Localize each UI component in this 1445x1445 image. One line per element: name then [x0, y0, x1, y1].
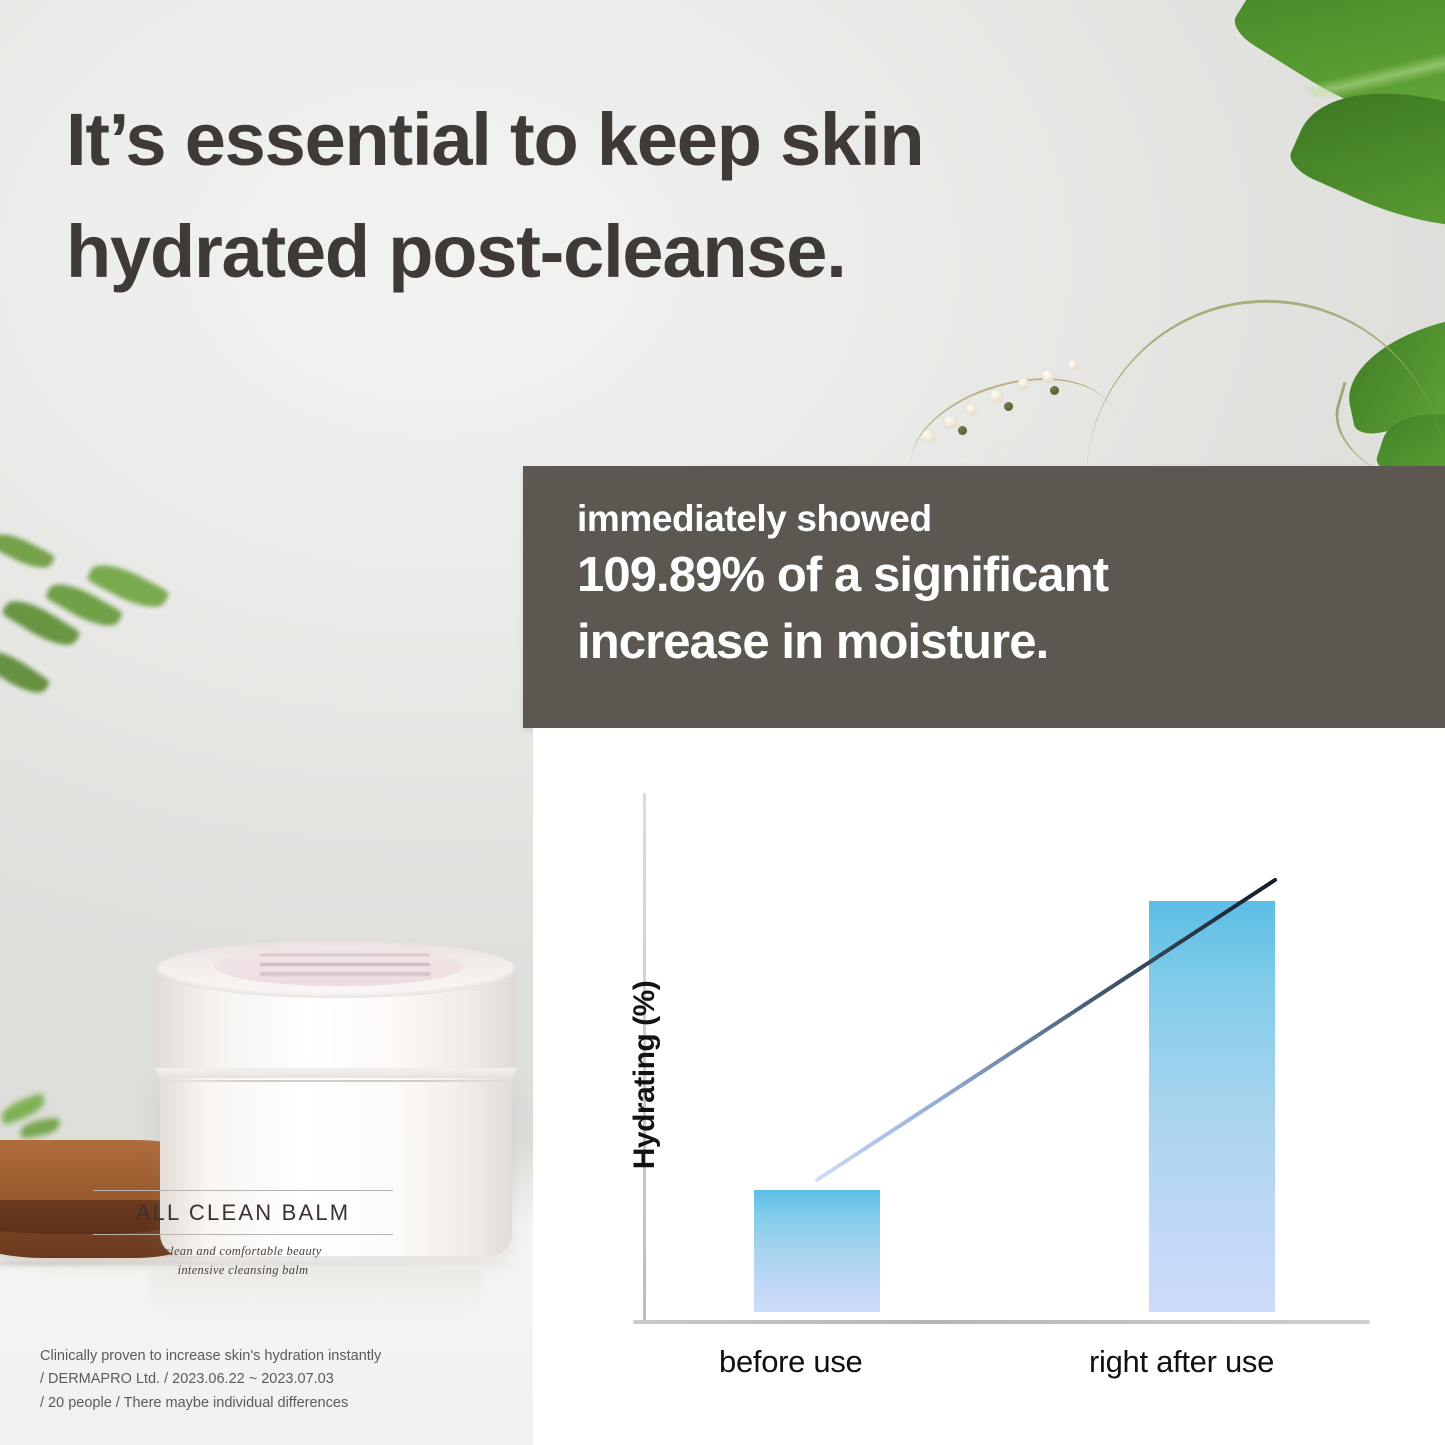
berry-icon: [1004, 402, 1013, 411]
chart-bar-right-after-use: [1149, 901, 1275, 1312]
berry-icon: [944, 416, 957, 429]
product-tagline-line1: clean and comfortable beauty: [164, 1244, 321, 1258]
headline-line-2: hydrated post-cleanse.: [66, 196, 1216, 308]
berry-icon: [1042, 370, 1055, 383]
callout-line-1: immediately showed: [577, 496, 1445, 542]
leaf-icon: [0, 526, 55, 575]
disclaimer-line-3: / 20 people / There maybe individual dif…: [40, 1392, 520, 1415]
berry-icon: [922, 430, 935, 443]
disclaimer-line-1: Clinically proven to increase skin's hyd…: [40, 1345, 520, 1368]
label-rule-top: [93, 1190, 393, 1191]
berry-icon: [958, 426, 967, 435]
callout-line-2: 109.89% of a significant: [577, 542, 1445, 609]
berry-icon: [1050, 386, 1059, 395]
label-rule-bottom: [93, 1234, 393, 1235]
product-name: ALL CLEAN BALM: [78, 1200, 408, 1226]
product-tagline-line2: intensive cleansing balm: [178, 1263, 309, 1277]
leaf-icon: [19, 1117, 61, 1138]
callout-line-3: increase in moisture.: [577, 609, 1445, 676]
product-label: ALL CLEAN BALM clean and comfortable bea…: [78, 1190, 408, 1280]
chart-x-axis: [633, 1320, 1370, 1324]
jar-lid-label-text: [260, 954, 430, 976]
chart-y-axis-label: Hydrating (%): [628, 925, 662, 1225]
statistic-callout: immediately showed 109.89% of a signific…: [523, 466, 1445, 728]
chart-x-tick-before-use: before use: [719, 1344, 863, 1380]
product-tagline: clean and comfortable beauty intensive c…: [78, 1242, 408, 1280]
advertisement-canvas: ALL CLEAN BALM clean and comfortable bea…: [0, 0, 1445, 1445]
chart-bar-before-use: [754, 1190, 880, 1312]
headline-line-1: It’s essential to keep skin: [66, 98, 923, 181]
berry-icon: [1068, 360, 1078, 370]
sprig-branch: [896, 356, 1114, 472]
chart-x-tick-right-after-use: right after use: [1089, 1344, 1274, 1380]
berry-sprig: [900, 330, 1120, 460]
chart-x-tick-labels: before use right after use: [533, 1336, 1445, 1396]
leaf-icon: [0, 642, 51, 701]
berry-icon: [1018, 378, 1029, 389]
hydration-bar-chart: Hydrating (%) before use right after use: [533, 728, 1445, 1445]
berry-icon: [990, 390, 1003, 403]
page-title: It’s essential to keep skin hydrated pos…: [66, 84, 1216, 309]
disclaimer-text: Clinically proven to increase skin's hyd…: [40, 1345, 520, 1415]
jar-seam: [160, 1080, 512, 1082]
berry-icon: [966, 404, 977, 415]
disclaimer-line-2: / DERMAPRO Ltd. / 2023.06.22 ~ 2023.07.0…: [40, 1368, 520, 1391]
